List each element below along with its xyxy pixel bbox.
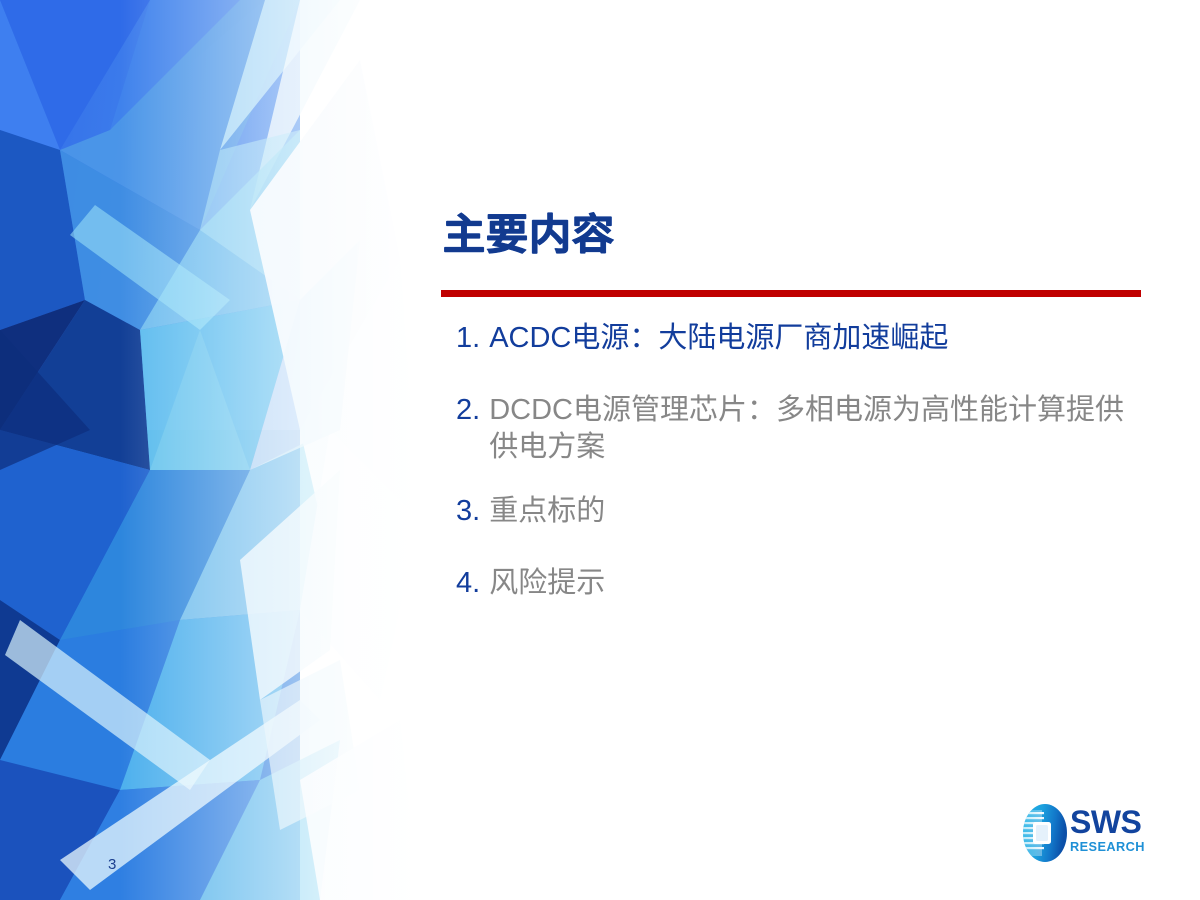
page-number: 3 [108,857,116,872]
decoration-svg [0,0,420,900]
agenda-item-4[interactable]: 4. 风险提示 [456,565,1146,603]
agenda-item-2[interactable]: 2. DCDC电源管理芯片：多相电源为高性能计算提供供电方案 [456,392,1146,467]
title-divider [441,290,1141,297]
low-poly-triangles-decoration [0,0,420,900]
agenda-item-2-label: DCDC电源管理芯片：多相电源为高性能计算提供供电方案 [489,392,1146,467]
agenda-item-2-number: 2. [456,392,489,430]
agenda-list: 1. ACDC电源：大陆电源厂商加速崛起 2. DCDC电源管理芯片：多相电源为… [456,320,1146,632]
agenda-item-3[interactable]: 3. 重点标的 [456,493,1146,531]
logo-subtitle: RESEARCH [1070,841,1162,854]
agenda-item-4-number: 4. [456,565,489,603]
sws-ring-icon-svg [1016,802,1074,864]
agenda-item-3-number: 3. [456,493,489,531]
logo-wordmark: SWS RESEARCH [1070,806,1160,854]
agenda-item-3-label: 重点标的 [489,493,1146,531]
slide-canvas: 3 主要内容 1. ACDC电源：大陆电源厂商加速崛起 2. DCDC电源管理芯… [0,0,1200,900]
page-title: 主要内容 [443,212,615,258]
sws-research-logo: SWS RESEARCH [1016,800,1156,866]
agenda-item-1-number: 1. [456,320,489,358]
agenda-item-4-label: 风险提示 [489,565,1146,603]
logo-name: SWS [1070,806,1160,838]
agenda-item-1[interactable]: 1. ACDC电源：大陆电源厂商加速崛起 [456,320,1146,358]
sws-ring-icon [1016,802,1074,864]
agenda-item-1-label: ACDC电源：大陆电源厂商加速崛起 [489,320,1146,358]
